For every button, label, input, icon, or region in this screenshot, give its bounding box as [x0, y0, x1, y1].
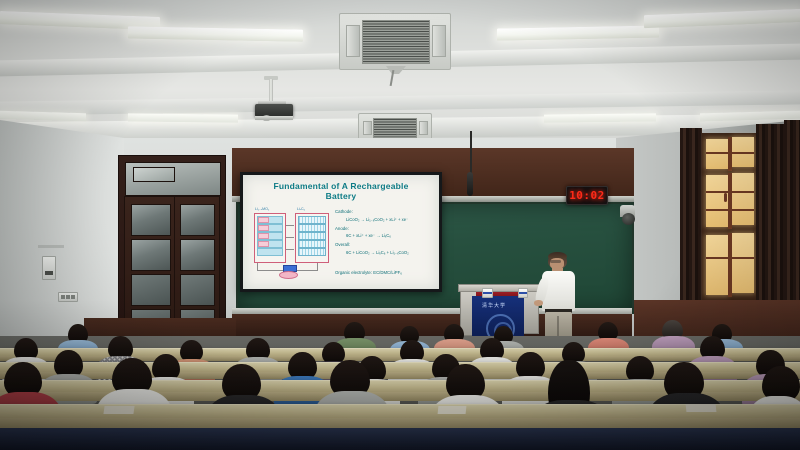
overall-equation: 6C + LiCoO₂ → LiₓC₆ + Li₁₋ₓCoO₂: [346, 250, 435, 255]
digital-clock: 10:02: [566, 186, 608, 205]
hanging-microphone: [467, 172, 473, 196]
ceiling-light-7: [544, 113, 656, 122]
paper-sheet: [686, 404, 717, 412]
projector-base: [255, 116, 293, 120]
projector-drop-pole: [269, 79, 273, 103]
wall-sign: [38, 245, 64, 248]
anode-equation: 6C + xLi⁺ + xe⁻ → LiₓC₆: [346, 233, 435, 238]
clock-time: 10:02: [569, 189, 605, 202]
overall-label: Overall:: [335, 242, 435, 247]
curtain-left[interactable]: [680, 128, 702, 328]
security-camera-icon: [622, 213, 635, 225]
air-conditioner-unit-1: [339, 13, 451, 70]
lectern-top: [458, 284, 542, 292]
window-handle[interactable]: [724, 193, 727, 202]
presenter-glasses: [550, 260, 561, 263]
cathode-equation: LiCoO₂ → Li₁₋ₓCoO₂ + xLi⁺ + xe⁻: [346, 217, 435, 222]
schematic-label-cathode: Li₁₋ₓMO₂: [255, 207, 269, 211]
curtain-far-right[interactable]: [784, 120, 800, 330]
schematic-label-anode: LiₓC₆: [297, 207, 305, 211]
air-conditioner-unit-2: [358, 113, 432, 141]
paper-sheet: [103, 406, 134, 414]
microphone-cable: [470, 131, 472, 173]
anode-label: Anode:: [335, 226, 435, 231]
ceiling-light-6: [128, 113, 238, 122]
cup-left: [482, 288, 493, 298]
projection-screen-frame: Fundamental of A Rechargeable Battery Li…: [240, 172, 442, 292]
desk-row-1-base: [0, 428, 800, 450]
cup-right: [518, 288, 528, 298]
left-wall: [0, 120, 124, 340]
slide-title-line2: Battery: [257, 192, 425, 202]
audience-row-1: [0, 338, 800, 408]
paper-sheet: [438, 406, 467, 414]
electrolyte-footnote: Organic electrolyte: EC/DMC/LiPF₆: [335, 270, 402, 275]
projection-screen: Fundamental of A Rechargeable Battery Li…: [243, 175, 439, 289]
slide-equations: Cathode: LiCoO₂ → Li₁₋ₓCoO₂ + xLi⁺ + xe⁻…: [335, 209, 435, 255]
battery-schematic: Li₁₋ₓMO₂ LiₓC₆: [253, 207, 331, 275]
cathode-label: Cathode:: [335, 209, 435, 214]
light-switch-plate[interactable]: [58, 292, 78, 302]
lectern-panel-text: 清华大学: [482, 302, 506, 309]
lecture-hall-photo: Fundamental of A Rechargeable Battery Li…: [0, 0, 800, 450]
wall-control-panel[interactable]: [42, 256, 56, 280]
